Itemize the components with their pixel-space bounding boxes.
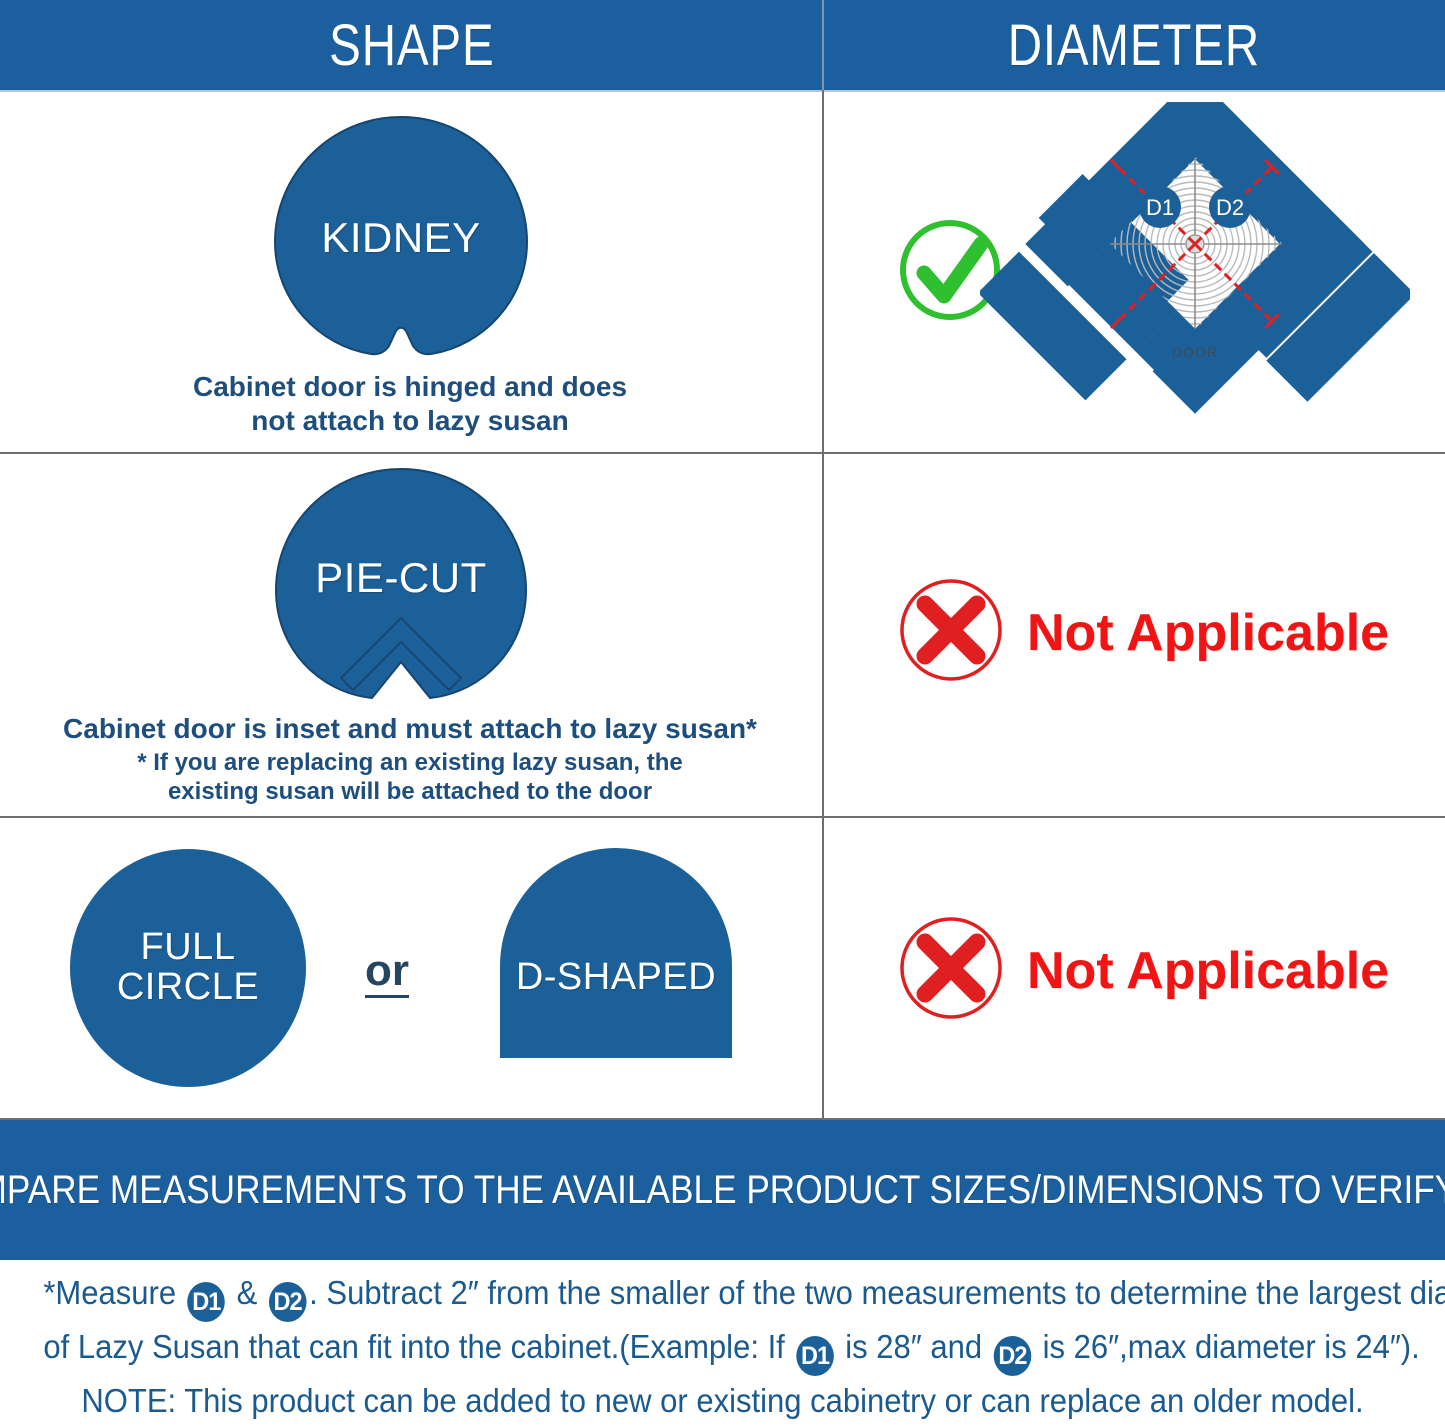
pie-cut-shape: PIE-CUT — [272, 466, 530, 701]
footer-line-3: NOTE: This product can be added to new o… — [43, 1376, 1401, 1426]
header-column-divider — [822, 0, 824, 90]
kidney-caption-line-2: not attach to lazy susan — [80, 404, 740, 438]
footer-badge-d2: D2 — [269, 1282, 307, 1322]
d-shaped-shape-label: D-SHAPED — [498, 956, 734, 999]
footer-notes: *Measure D1 & D2. Subtract 2″ from the s… — [43, 1268, 1401, 1417]
header-title-diameter: DIAMETER — [1008, 12, 1260, 79]
footer-line-2-c: is 26″,max diameter is 24″). — [1043, 1328, 1420, 1365]
table-header: SHAPE DIAMETER — [0, 0, 1445, 90]
or-conjunction: or — [365, 946, 409, 996]
badge-d1-label: D1 — [1146, 195, 1174, 220]
not-applicable-label-pie-cut: Not Applicable — [1027, 603, 1389, 663]
header-cell-diameter: DIAMETER — [823, 0, 1445, 90]
pie-cut-caption: Cabinet door is inset and must attach to… — [20, 712, 800, 807]
red-x-circle-icon — [897, 914, 1005, 1027]
footer-badge-d1-example: D1 — [796, 1336, 834, 1376]
d-shaped-shape: D-SHAPED — [498, 846, 734, 1086]
footer-line-1: *Measure D1 & D2. Subtract 2″ from the s… — [43, 1268, 1401, 1322]
footer-line-2-b: is 28″ and — [845, 1328, 982, 1365]
full-circle-shape: FULL CIRCLE — [68, 848, 308, 1088]
red-x-circle-icon — [897, 576, 1005, 689]
footer-line-2: of Lazy Susan that can fit into the cabi… — [43, 1322, 1401, 1376]
full-circle-shape-label: FULL CIRCLE — [68, 928, 308, 1008]
pie-cut-caption-line-3: existing susan will be attached to the d… — [20, 777, 800, 806]
kidney-shape-label: KIDNEY — [271, 214, 531, 262]
footer-line-2-a: of Lazy Susan that can fit into the cabi… — [43, 1328, 784, 1365]
full-circle-label-line-1: FULL — [68, 928, 308, 968]
kidney-caption-line-1: Cabinet door is hinged and does — [80, 370, 740, 404]
cell-diameter-pie-cut: Not Applicable — [825, 454, 1445, 816]
footer-line-1-rest: . Subtract 2″ from the smaller of the tw… — [309, 1274, 1445, 1311]
pie-cut-caption-line-2: * If you are replacing an existing lazy … — [20, 748, 800, 777]
pie-cut-shape-label: PIE-CUT — [272, 554, 530, 602]
not-applicable-row-full-circle: Not Applicable — [897, 914, 1389, 1027]
kidney-shape: KIDNEY — [271, 114, 531, 359]
footer-measure-text: *Measure — [43, 1274, 176, 1311]
banner-text: COMPARE MEASUREMENTS TO THE AVAILABLE PR… — [0, 1168, 1445, 1213]
cell-shape-pie-cut: PIE-CUT Cabinet door is inset and must a… — [0, 454, 823, 816]
cell-diameter-kidney: D1 D2 DOOR — [825, 92, 1445, 452]
lazy-susan-shape-guide: SHAPE DIAMETER KIDNEY Cabinet door is hi… — [0, 0, 1445, 1417]
badge-d2-label: D2 — [1216, 195, 1244, 220]
header-title-shape: SHAPE — [329, 12, 494, 79]
footer-badge-d2-example: D2 — [994, 1336, 1032, 1376]
footer-ampersand: & — [237, 1274, 258, 1311]
footer-badge-d1: D1 — [188, 1282, 226, 1322]
not-applicable-label-full-circle: Not Applicable — [1027, 941, 1389, 1001]
door-label: DOOR — [1172, 344, 1218, 360]
full-circle-label-line-2: CIRCLE — [68, 968, 308, 1008]
header-cell-shape: SHAPE — [0, 0, 823, 90]
cell-diameter-full-circle: Not Applicable — [825, 818, 1445, 1118]
cell-shape-full-circle: FULL CIRCLE or D-SHAPED — [0, 818, 823, 1118]
badge-d2: D2 — [1209, 186, 1251, 228]
kidney-caption: Cabinet door is hinged and does not atta… — [80, 370, 740, 438]
corner-cabinet-diagram-svg: D1 D2 DOOR — [980, 102, 1410, 422]
pie-cut-caption-line-1: Cabinet door is inset and must attach to… — [20, 712, 800, 746]
cell-shape-kidney: KIDNEY Cabinet door is hinged and does n… — [0, 92, 823, 452]
compare-measurements-banner: COMPARE MEASUREMENTS TO THE AVAILABLE PR… — [0, 1120, 1445, 1260]
badge-d1: D1 — [1139, 186, 1181, 228]
not-applicable-row-pie-cut: Not Applicable — [897, 576, 1389, 689]
corner-cabinet-diagram: D1 D2 DOOR — [980, 102, 1410, 427]
